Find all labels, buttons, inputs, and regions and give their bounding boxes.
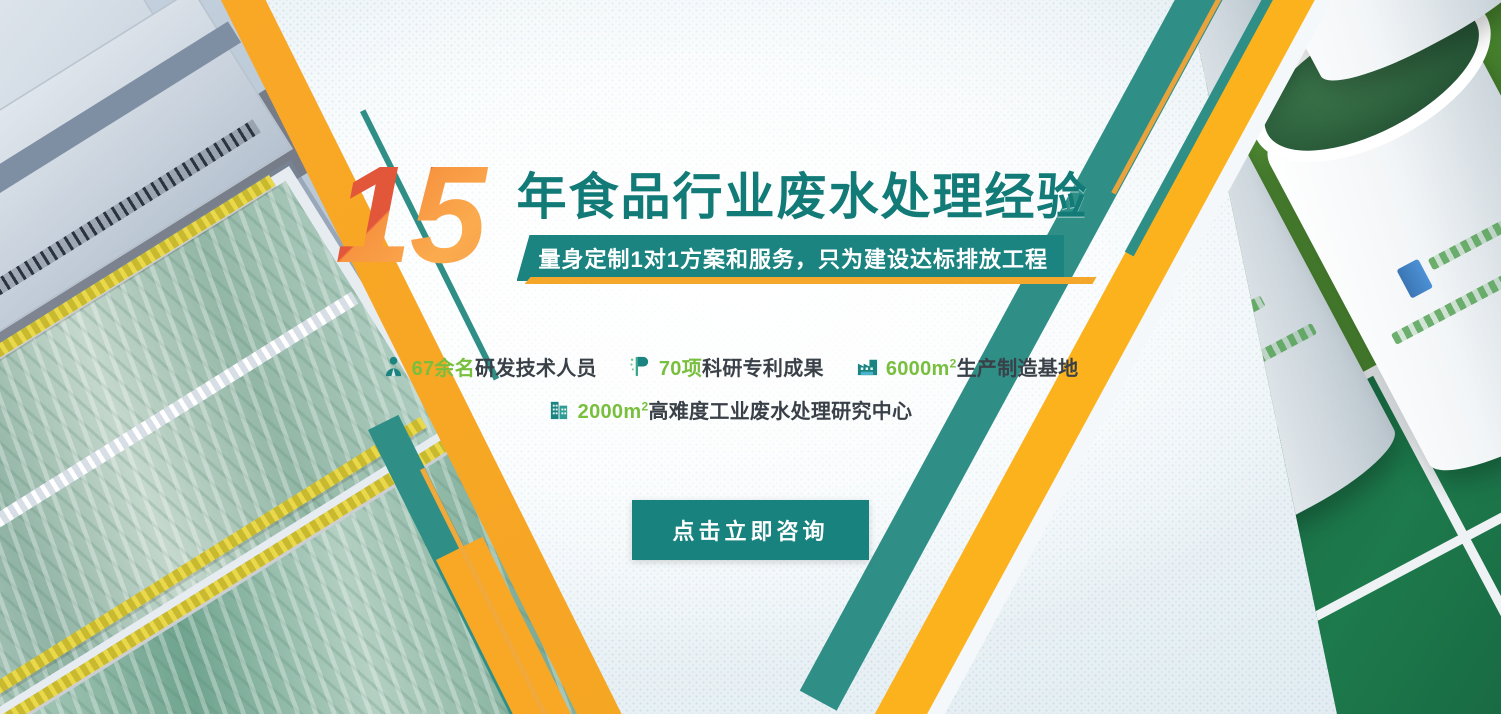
feature-item-staff: 67余名研发技术人员 bbox=[382, 352, 597, 381]
factory-icon bbox=[856, 355, 879, 378]
feature-row-1: 67余名研发技术人员 70项科研专利成果 bbox=[335, 352, 1125, 381]
feature-item-research-center: 2000m2高难度工业废水处理研究中心 bbox=[548, 395, 913, 424]
banner-content: 15 年食品行业废水处理经验 量身定制1对1方案和服务，只为建设达标排放工程 bbox=[0, 0, 1501, 714]
feature-label-research-center: 高难度工业废水处理研究中心 bbox=[648, 401, 912, 423]
feature-unit-patents: 项 bbox=[682, 358, 702, 380]
title-block: 年食品行业废水处理经验 量身定制1对1方案和服务，只为建设达标排放工程 bbox=[517, 171, 1089, 279]
feature-text-factory: 6000m2生产制造基地 bbox=[886, 352, 1079, 381]
feature-value-staff: 67 bbox=[412, 358, 435, 380]
subtitle-wrap: 量身定制1对1方案和服务，只为建设达标排放工程 bbox=[517, 235, 1089, 277]
subtitle-bar: 量身定制1对1方案和服务，只为建设达标排放工程 bbox=[517, 235, 1064, 281]
feature-unit-staff: 余名 bbox=[434, 358, 475, 380]
feature-text-staff: 67余名研发技术人员 bbox=[412, 352, 597, 381]
feature-row-2: 2000m2高难度工业废水处理研究中心 bbox=[335, 395, 1125, 424]
consult-now-button[interactable]: 点击立即咨询 bbox=[632, 500, 868, 560]
feature-item-patents: 70项科研专利成果 bbox=[629, 352, 824, 381]
subtitle-underline bbox=[525, 277, 1097, 284]
feature-label-staff: 研发技术人员 bbox=[475, 358, 597, 380]
feature-text-patents: 70项科研专利成果 bbox=[659, 352, 824, 381]
promo-banner: 15 年食品行业废水处理经验 量身定制1对1方案和服务，只为建设达标排放工程 bbox=[0, 0, 1501, 714]
years-number: 15 bbox=[335, 152, 501, 279]
feature-value-factory: 6000m2 bbox=[886, 358, 957, 380]
headline-row: 15 年食品行业废水处理经验 量身定制1对1方案和服务，只为建设达标排放工程 bbox=[335, 152, 1089, 279]
patent-icon bbox=[629, 355, 652, 378]
user-icon bbox=[382, 355, 405, 378]
feature-list: 67余名研发技术人员 70项科研专利成果 bbox=[335, 352, 1125, 424]
feature-value-research-center: 2000m2 bbox=[578, 401, 649, 423]
building-icon bbox=[548, 398, 571, 421]
cta-wrap: 点击立即咨询 bbox=[0, 500, 1501, 560]
feature-value-patents: 70 bbox=[659, 358, 682, 380]
feature-sup-factory: 2 bbox=[950, 356, 957, 370]
page-title: 年食品行业废水处理经验 bbox=[517, 171, 1089, 224]
feature-label-patents: 科研专利成果 bbox=[702, 358, 824, 380]
feature-text-research-center: 2000m2高难度工业废水处理研究中心 bbox=[578, 395, 913, 424]
feature-item-factory: 6000m2生产制造基地 bbox=[856, 352, 1079, 381]
feature-label-factory: 生产制造基地 bbox=[957, 358, 1079, 380]
